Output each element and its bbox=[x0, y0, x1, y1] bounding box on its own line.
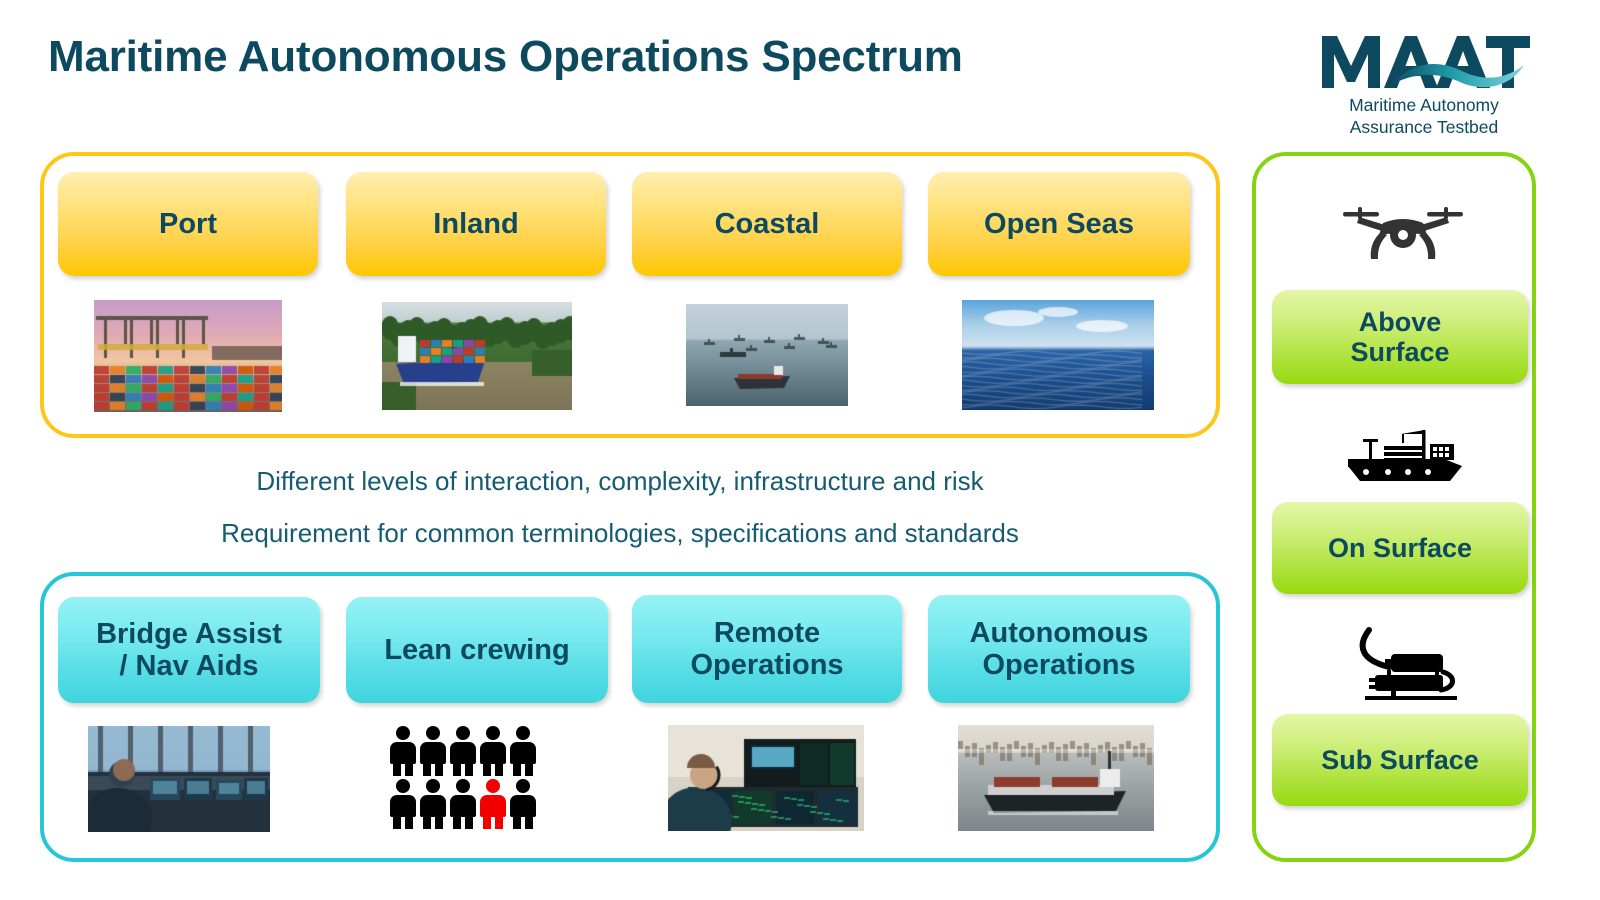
env-card-coastal[interactable]: Coastal bbox=[632, 172, 902, 276]
person-icon bbox=[510, 779, 536, 829]
person-icon bbox=[390, 779, 416, 829]
crew-row-top bbox=[390, 726, 536, 776]
domain-card-sub-surface[interactable]: Sub Surface bbox=[1272, 714, 1528, 806]
maat-logo-subtitle-line2: Assurance Testbed bbox=[1318, 116, 1530, 138]
photo-ship-bridge-console bbox=[88, 726, 270, 832]
slide-canvas: Maritime Autonomous Operations Spectrum bbox=[0, 0, 1600, 900]
env-card-inland[interactable]: Inland bbox=[346, 172, 606, 276]
page-title: Maritime Autonomous Operations Spectrum bbox=[48, 32, 963, 82]
person-icon bbox=[420, 779, 446, 829]
autonomy-card-autonomous-operations[interactable]: Autonomous Operations bbox=[928, 595, 1190, 703]
photo-autonomous-vessel bbox=[958, 725, 1154, 831]
photo-coastal-anchorage bbox=[686, 304, 848, 406]
person-icon-highlighted bbox=[480, 779, 506, 829]
autonomy-card-bridge-assist-label: Bridge Assist / Nav Aids bbox=[96, 618, 282, 683]
domain-card-above-surface[interactable]: Above Surface bbox=[1272, 290, 1528, 384]
env-card-coastal-label: Coastal bbox=[715, 208, 820, 240]
person-icon bbox=[480, 726, 506, 776]
photo-port-terminal bbox=[94, 300, 282, 412]
maat-logo: Maritime Autonomy Assurance Testbed bbox=[1318, 30, 1530, 142]
submersible-rov-icon bbox=[1340, 618, 1470, 702]
env-card-open-seas-label: Open Seas bbox=[984, 208, 1134, 240]
domain-card-on-surface[interactable]: On Surface bbox=[1272, 502, 1528, 594]
env-card-port[interactable]: Port bbox=[58, 172, 318, 276]
crew-row-bottom bbox=[390, 779, 536, 829]
person-icon bbox=[450, 779, 476, 829]
domain-card-on-surface-label: On Surface bbox=[1328, 533, 1472, 563]
autonomy-card-bridge-assist[interactable]: Bridge Assist / Nav Aids bbox=[58, 597, 320, 703]
autonomy-card-autonomous-operations-label: Autonomous Operations bbox=[970, 617, 1149, 682]
drone-icon bbox=[1330, 196, 1475, 266]
maat-logo-subtitle: Maritime Autonomy Assurance Testbed bbox=[1318, 94, 1530, 138]
domain-card-above-surface-label: Above Surface bbox=[1350, 307, 1449, 367]
autonomy-card-lean-crewing-label: Lean crewing bbox=[384, 634, 569, 666]
env-card-inland-label: Inland bbox=[433, 208, 518, 240]
crew-pictogram-icon bbox=[390, 726, 536, 829]
maat-logo-subtitle-line1: Maritime Autonomy bbox=[1318, 94, 1530, 116]
maat-logo-wordmark-icon bbox=[1318, 30, 1530, 92]
statement-line-2: Requirement for common terminologies, sp… bbox=[0, 518, 1240, 549]
photo-remote-control-centre bbox=[668, 725, 864, 831]
env-card-port-label: Port bbox=[159, 208, 217, 240]
photo-inland-waterway bbox=[382, 302, 572, 410]
domain-card-sub-surface-label: Sub Surface bbox=[1321, 745, 1479, 775]
person-icon bbox=[420, 726, 446, 776]
person-icon bbox=[450, 726, 476, 776]
autonomy-card-remote-operations-label: Remote Operations bbox=[690, 617, 843, 682]
env-card-open-seas[interactable]: Open Seas bbox=[928, 172, 1190, 276]
autonomy-card-remote-operations[interactable]: Remote Operations bbox=[632, 595, 902, 703]
autonomy-card-lean-crewing[interactable]: Lean crewing bbox=[346, 597, 608, 703]
ship-icon bbox=[1340, 424, 1470, 486]
person-icon bbox=[510, 726, 536, 776]
photo-open-ocean bbox=[962, 300, 1154, 410]
statement-line-1: Different levels of interaction, complex… bbox=[0, 466, 1240, 497]
person-icon bbox=[390, 726, 416, 776]
